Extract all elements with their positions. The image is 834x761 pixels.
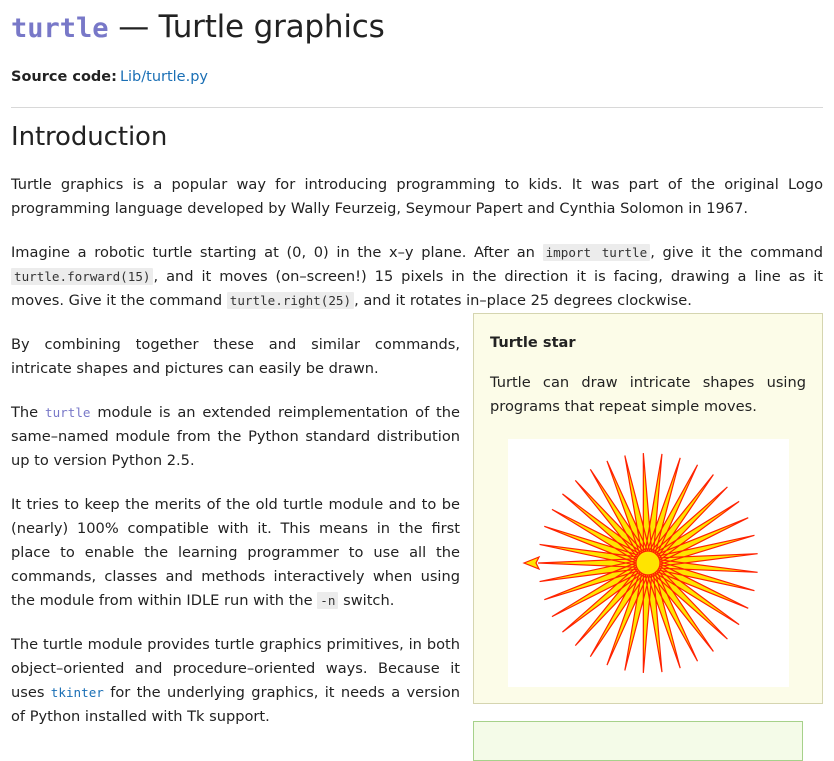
page-title: turtle — Turtle graphics [11,0,823,47]
main-text-column: By combining together these and similar … [11,313,460,729]
turtle-docs-page: turtle — Turtle graphics Source code:Lib… [0,0,834,736]
two-column-region: By combining together these and similar … [11,313,823,729]
code-turtle-module-ref: turtle [45,405,91,420]
page-title-rest: Turtle graphics [159,9,385,45]
source-code-line: Source code:Lib/turtle.py [11,47,823,87]
aside-title: Turtle star [490,328,806,353]
paragraph-robotic-turtle: Imagine a robotic turtle starting at (0,… [11,221,823,313]
code-tkinter-link[interactable]: tkinter [51,685,104,700]
paragraph-intro: Turtle graphics is a popular way for int… [11,153,823,221]
paragraph-combining: By combining together these and similar … [11,313,460,381]
page-title-dash: — [118,9,149,45]
paragraph-module-reimplementation: The turtle module is an extended reimple… [11,381,460,473]
text-run: , and it rotates in–place 25 degrees clo… [354,292,692,309]
page-title-module: turtle [11,13,109,44]
section-heading-introduction: Introduction [11,108,823,153]
aside-description: Turtle can draw intricate shapes using p… [490,353,806,419]
text-run: , give it the command [650,244,823,261]
source-code-link[interactable]: Lib/turtle.py [117,69,208,85]
text-run: switch. [338,592,394,609]
turtle-star-aside: Turtle star Turtle can draw intricate sh… [473,313,823,704]
turtle-star-figure [490,419,806,687]
code-n-switch: -n [317,592,338,609]
text-run: Imagine a robotic turtle starting at (0,… [11,244,543,261]
text-run: The [11,404,45,421]
code-sample-block [473,721,803,761]
paragraph-primitives: The turtle module provides turtle graphi… [11,613,460,729]
paragraph-merits: It tries to keep the merits of the old t… [11,473,460,613]
code-turtle-right: turtle.right(25) [227,292,354,309]
turtle-star-image [508,439,789,687]
source-code-label: Source code: [11,69,117,85]
turtle-star-svg [508,439,789,687]
code-turtle-forward: turtle.forward(15) [11,268,153,285]
code-import-turtle: import turtle [543,244,651,261]
